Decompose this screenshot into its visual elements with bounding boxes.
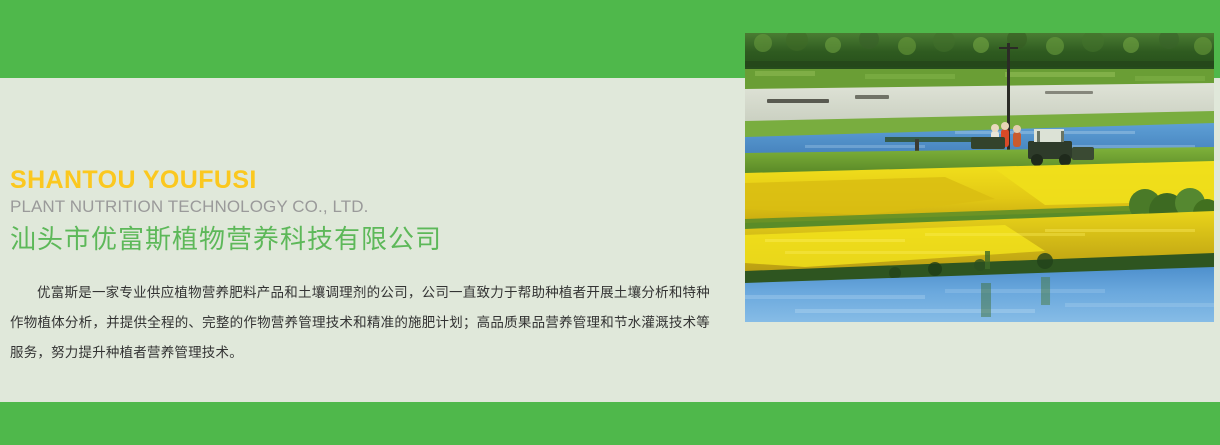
brand-name-chinese: 汕头市优富斯植物营养科技有限公司 <box>10 222 710 256</box>
brand-name-english: SHANTOU YOUFUSI <box>10 165 710 195</box>
brand-subtitle-english: PLANT NUTRITION TECHNOLOGY CO., LTD. <box>10 196 710 218</box>
bottom-green-band <box>0 402 1220 445</box>
company-introduction-paragraph: 优富斯是一家专业供应植物营养肥料产品和土壤调理剂的公司，公司一直致力于帮助种植者… <box>10 278 710 368</box>
farmland-photo <box>745 33 1214 322</box>
farmland-photo-illustration <box>745 33 1214 322</box>
company-identity-block: SHANTOU YOUFUSI PLANT NUTRITION TECHNOLO… <box>10 165 710 256</box>
